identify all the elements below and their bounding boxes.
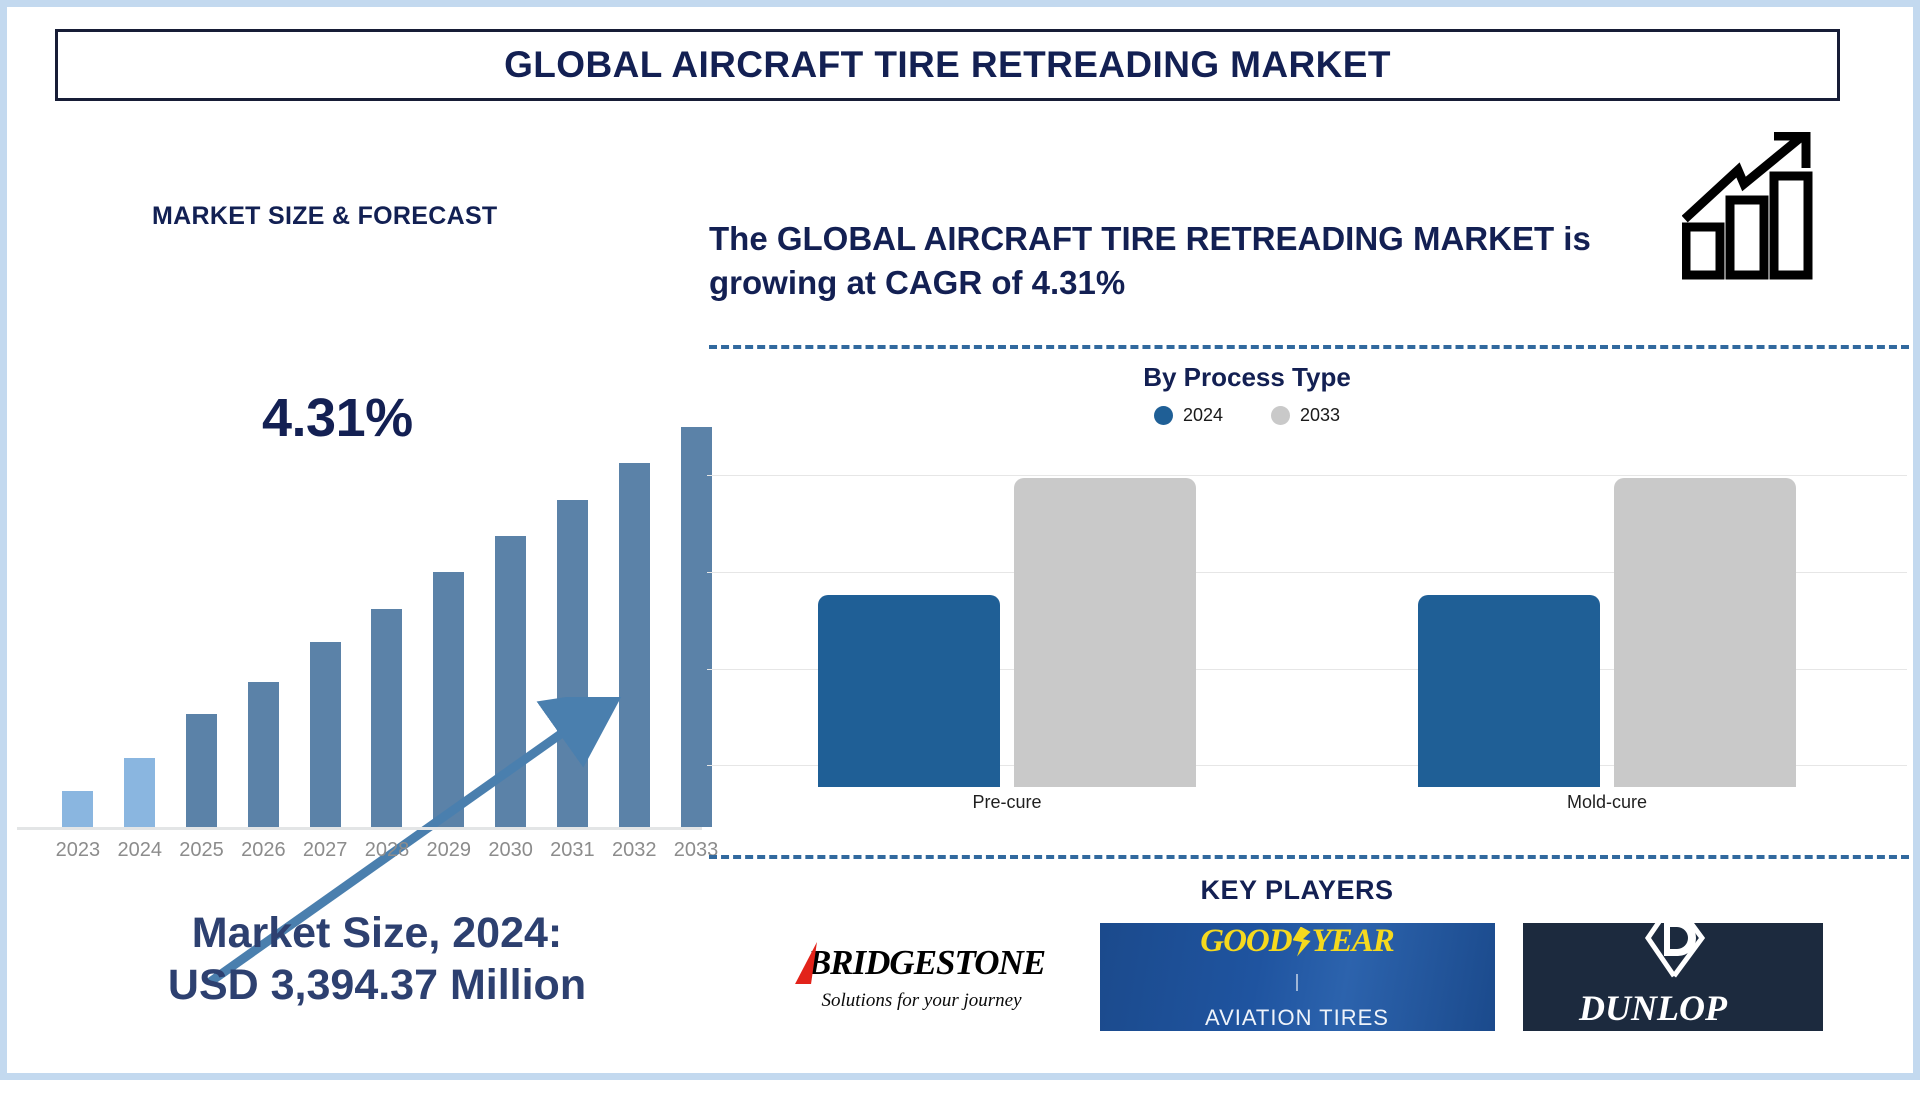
process-bar-2033 bbox=[1014, 478, 1196, 787]
forecast-year-label: 2028 bbox=[356, 839, 418, 862]
forecast-year-label: 2027 bbox=[294, 839, 356, 862]
page-title: GLOBAL AIRCRAFT TIRE RETREADING MARKET bbox=[504, 44, 1391, 86]
forecast-bar bbox=[310, 642, 341, 827]
forecast-bar bbox=[557, 500, 588, 827]
dunlop-subtitle: AIRCRAFT TYRES bbox=[1579, 1030, 1770, 1056]
market-size-callout: Market Size, 2024: USD 3,394.37 Million bbox=[17, 907, 737, 1012]
legend-swatch-icon bbox=[1154, 406, 1173, 425]
legend-swatch-icon bbox=[1271, 406, 1290, 425]
bridgestone-wordmark-row: BRIDGESTONE bbox=[798, 942, 1045, 984]
left-panel: MARKET SIZE & FORECAST 4.31% 20232024202… bbox=[17, 117, 737, 1057]
market-size-forecast-chart bbox=[47, 407, 727, 827]
forecast-bars bbox=[47, 407, 727, 827]
process-type-legend: 20242033 bbox=[707, 405, 1787, 426]
forecast-year-label: 2026 bbox=[232, 839, 294, 862]
forecast-bar bbox=[433, 572, 464, 827]
key-players-logos: BRIDGESTONE Solutions for your journey G… bbox=[707, 922, 1887, 1032]
forecast-bar bbox=[186, 714, 217, 827]
process-bar-2033 bbox=[1614, 478, 1796, 787]
divider-dashed-bottom bbox=[709, 855, 1909, 859]
forecast-bar-slot bbox=[171, 407, 233, 827]
title-box: GLOBAL AIRCRAFT TIRE RETREADING MARKET bbox=[55, 29, 1840, 101]
process-type-bars bbox=[707, 447, 1907, 787]
cagr-headline: The GLOBAL AIRCRAFT TIRE RETREADING MARK… bbox=[709, 217, 1609, 304]
forecast-bar bbox=[495, 536, 526, 827]
legend-label: 2024 bbox=[1183, 405, 1223, 426]
forecast-year-label: 2029 bbox=[418, 839, 480, 862]
forecast-bar-slot bbox=[356, 407, 418, 827]
forecast-bar-slot bbox=[603, 407, 665, 827]
process-bar-2024 bbox=[818, 595, 1000, 787]
right-panel: The GLOBAL AIRCRAFT TIRE RETREADING MARK… bbox=[707, 117, 1917, 1067]
goodyear-word-a: GOOD bbox=[1200, 923, 1291, 960]
process-type-category-labels: Pre-cureMold-cure bbox=[707, 792, 1907, 813]
infographic-root: GLOBAL AIRCRAFT TIRE RETREADING MARKET M… bbox=[0, 0, 1920, 1080]
process-category-label: Mold-cure bbox=[1307, 792, 1907, 813]
forecast-bar-slot bbox=[109, 407, 171, 827]
forecast-bar-slot bbox=[232, 407, 294, 827]
market-size-line-2: USD 3,394.37 Million bbox=[17, 959, 737, 1011]
forecast-bar-slot bbox=[47, 407, 109, 827]
forecast-bar bbox=[619, 463, 650, 827]
growth-bar-chart-arrow-icon bbox=[1682, 132, 1822, 282]
forecast-year-labels: 2023202420252026202720282029203020312032… bbox=[47, 839, 727, 862]
legend-label: 2033 bbox=[1300, 405, 1340, 426]
forecast-bar-slot bbox=[480, 407, 542, 827]
process-type-chart bbox=[707, 447, 1907, 787]
forecast-bar bbox=[371, 609, 402, 827]
forecast-bar bbox=[248, 682, 279, 827]
key-players-title: KEY PLAYERS bbox=[707, 875, 1887, 906]
bridgestone-wordmark: BRIDGESTONE bbox=[808, 943, 1045, 983]
dunlop-wordmark: DUNLOP bbox=[1579, 990, 1727, 1026]
legend-item-2024[interactable]: 2024 bbox=[1154, 405, 1223, 426]
goodyear-winged-foot-icon bbox=[1293, 927, 1311, 957]
logo-goodyear[interactable]: GOOD YEAR AVIATION TIRES bbox=[1100, 923, 1495, 1031]
forecast-year-label: 2024 bbox=[109, 839, 171, 862]
goodyear-divider bbox=[1296, 974, 1298, 991]
forecast-bar-slot bbox=[542, 407, 604, 827]
goodyear-wordmark: GOOD YEAR bbox=[1200, 923, 1394, 960]
forecast-bar bbox=[62, 791, 93, 827]
forecast-bar-slot bbox=[418, 407, 480, 827]
market-size-line-1: Market Size, 2024: bbox=[17, 907, 737, 959]
by-process-type-title: By Process Type bbox=[707, 362, 1787, 393]
forecast-year-label: 2030 bbox=[480, 839, 542, 862]
forecast-year-label: 2031 bbox=[542, 839, 604, 862]
process-type-group bbox=[707, 447, 1307, 787]
forecast-year-label: 2023 bbox=[47, 839, 109, 862]
logo-bridgestone[interactable]: BRIDGESTONE Solutions for your journey bbox=[772, 922, 1072, 1032]
process-bar-2024 bbox=[1418, 595, 1600, 787]
goodyear-word-b: YEAR bbox=[1312, 923, 1394, 960]
market-size-forecast-label: MARKET SIZE & FORECAST bbox=[152, 202, 498, 231]
bridgestone-tagline: Solutions for your journey bbox=[821, 990, 1021, 1012]
forecast-year-label: 2025 bbox=[171, 839, 233, 862]
forecast-axis-line bbox=[17, 827, 702, 830]
logo-dunlop[interactable]: DUNLOP AIRCRAFT TYRES bbox=[1523, 923, 1823, 1031]
goodyear-subtitle: AVIATION TIRES bbox=[1205, 1005, 1389, 1031]
process-type-group bbox=[1307, 447, 1907, 787]
process-category-label: Pre-cure bbox=[707, 792, 1307, 813]
forecast-bar-slot bbox=[294, 407, 356, 827]
divider-dashed-top bbox=[709, 345, 1909, 349]
dunlop-text: DUNLOP AIRCRAFT TYRES bbox=[1579, 990, 1770, 1056]
legend-item-2033[interactable]: 2033 bbox=[1271, 405, 1340, 426]
forecast-bar bbox=[124, 758, 155, 827]
forecast-year-label: 2032 bbox=[603, 839, 665, 862]
dunlop-d-mark-icon bbox=[1644, 898, 1706, 978]
